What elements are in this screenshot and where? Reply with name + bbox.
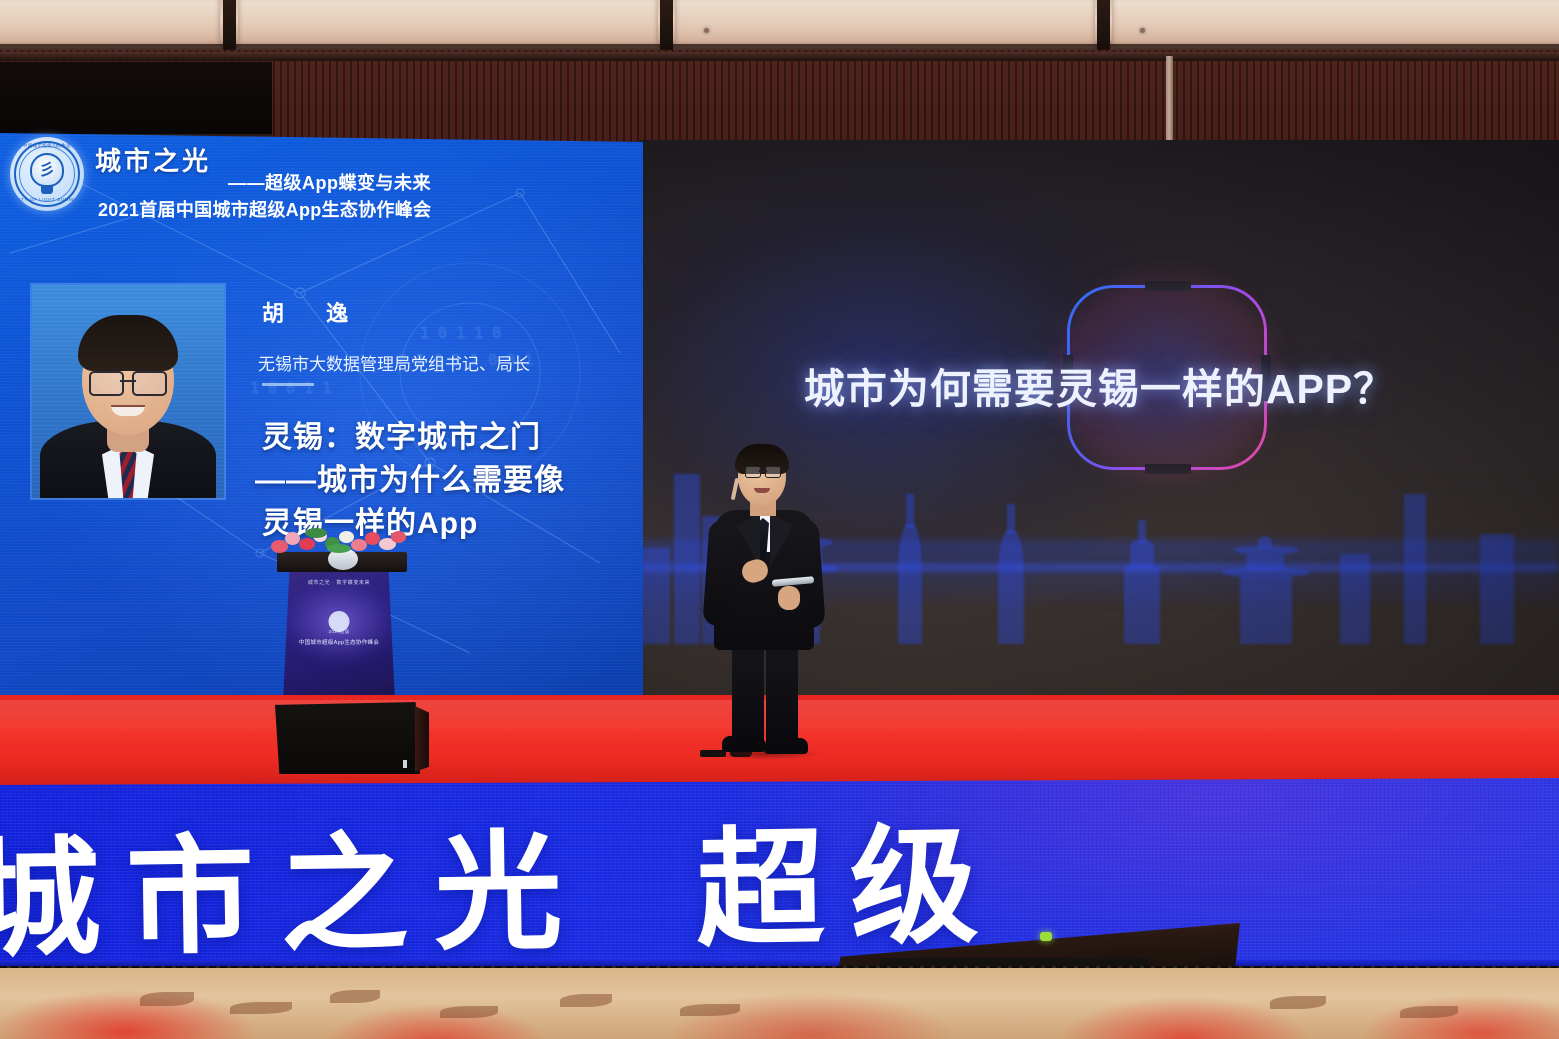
- conference-stage-photo: 城市为何需要灵锡一样的APP？ 0 1 0 1 1 0 0 1 1 0 1 1 …: [0, 0, 1559, 1039]
- slide-question-text: 城市为何需要灵锡一样的APP？: [640, 355, 1559, 415]
- speaker-title: 无锡市大数据管理局党组书记、局长: [258, 350, 530, 375]
- ceiling-black-panel: [0, 62, 272, 136]
- emblem-ring-text-bottom: CITY OF LIGHT SUMMIT: [10, 197, 84, 202]
- divider-rule: [262, 383, 314, 386]
- banner-text-row: 城市之光 超级: [0, 781, 1559, 974]
- headshot-glasses-icon: [89, 371, 167, 393]
- panel-subtitle: ——超级App蝶变与未来: [228, 169, 431, 195]
- stage-monitor-wedge-side: [415, 706, 429, 772]
- talk-title-line-2: ——城市为什么需要像: [255, 455, 565, 499]
- stage-monitor-wedge: [275, 702, 420, 774]
- lectern-body-line-1: 2021首届: [283, 629, 395, 635]
- talk-title-line-1: 灵锡：数字城市之门: [262, 412, 541, 456]
- summit-emblem-logo: 中国城市超级App生态 彡 CITY OF LIGHT SUMMIT: [10, 137, 84, 211]
- lectern-body-line-2: 中国城市超级App生态协作峰会: [283, 638, 395, 646]
- banner-text-right: 超级: [695, 781, 1006, 970]
- app-icon-gap-top: [1145, 281, 1191, 291]
- speaker-name: 胡 逸: [262, 296, 366, 328]
- app-icon-gap-bottom: [1145, 464, 1191, 474]
- speaker-headshot-photo: [32, 285, 224, 498]
- presenter-glasses-icon: [745, 466, 781, 477]
- panel-event-line: 2021首届中国城市超级App生态协作峰会: [98, 196, 431, 222]
- banner-text-left: 城市之光: [0, 787, 589, 974]
- emblem-ring-text-top: 中国城市超级App生态: [10, 143, 84, 149]
- headset-microphone-icon: [731, 478, 739, 500]
- curtain-rail: [0, 52, 1559, 61]
- presenter-person: [700, 448, 830, 756]
- power-led-indicator: [1040, 932, 1052, 941]
- flower-arrangement: [265, 528, 420, 570]
- emblem-center-glyph: 彡: [39, 156, 55, 180]
- panel-main-title: 城市之光: [95, 141, 211, 178]
- lectern-top-text: 城市之光 · 数字蝶变未来: [259, 579, 419, 586]
- floral-carpet: [0, 968, 1559, 1039]
- bottom-led-banner: 城市之光 超级: [0, 778, 1559, 974]
- banner-spacer: [588, 878, 696, 880]
- wedge-label: [403, 760, 407, 768]
